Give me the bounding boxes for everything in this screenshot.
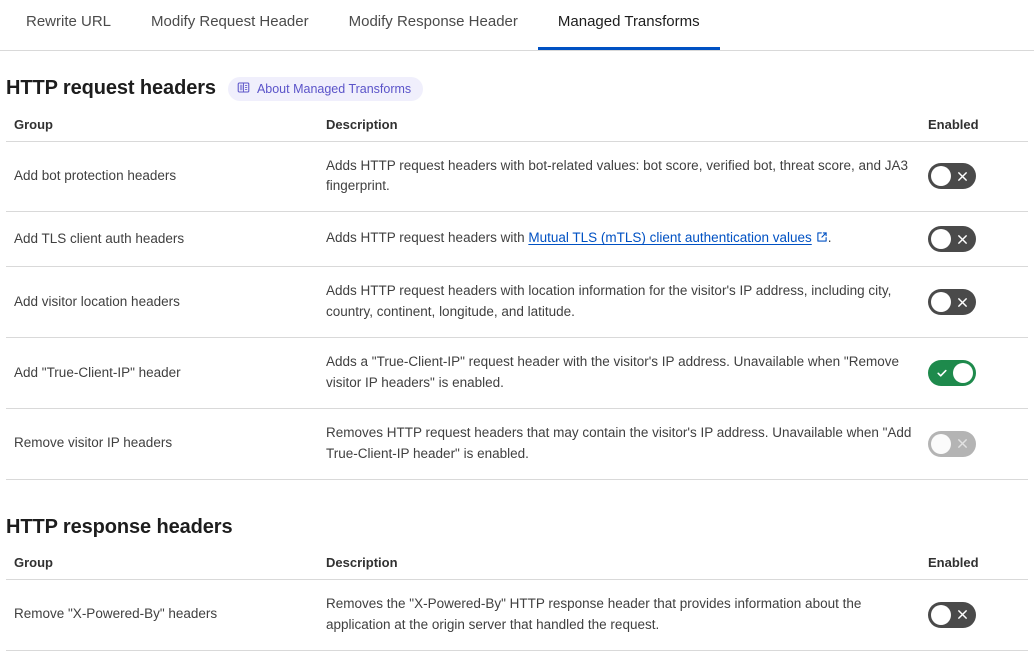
toggle-add-bot-protection-headers[interactable] xyxy=(928,163,976,189)
description-suffix: . xyxy=(828,230,832,245)
response-headers-table: Group Description Enabled Remove "X-Powe… xyxy=(6,555,1028,653)
table-row: Add visitor location headers Adds HTTP r… xyxy=(6,267,1028,338)
column-header-enabled: Enabled xyxy=(920,555,1028,580)
row-description: Adds HTTP request headers with location … xyxy=(318,267,920,338)
description-prefix: Adds HTTP request headers with xyxy=(326,230,528,245)
about-badge-label: About Managed Transforms xyxy=(257,83,411,96)
toggle-knob xyxy=(931,166,951,186)
row-group-label: Add bot protection headers xyxy=(6,141,318,212)
row-description: Removes the "X-Powered-By" HTTP response… xyxy=(318,579,920,650)
table-row: Remove "X-Powered-By" headers Removes th… xyxy=(6,579,1028,650)
toggle-add-tls-client-auth-headers[interactable] xyxy=(928,226,976,252)
row-group-label: Add "True-Client-IP" header xyxy=(6,338,318,409)
toggle-remove-visitor-ip-headers xyxy=(928,431,976,457)
row-description: Adds a "True-Client-IP" request header w… xyxy=(318,338,920,409)
table-row: Add bot protection headers Adds HTTP req… xyxy=(6,141,1028,212)
toggle-knob xyxy=(931,605,951,625)
column-header-group: Group xyxy=(6,117,318,142)
column-header-enabled: Enabled xyxy=(920,117,1028,142)
row-enabled-cell xyxy=(920,338,1028,409)
book-icon xyxy=(237,81,250,97)
row-group-label: Remove visitor IP headers xyxy=(6,409,318,480)
row-enabled-cell xyxy=(920,579,1028,650)
close-icon xyxy=(957,163,968,189)
row-enabled-cell xyxy=(920,409,1028,480)
column-header-group: Group xyxy=(6,555,318,580)
toggle-remove-x-powered-by-headers[interactable] xyxy=(928,602,976,628)
close-icon xyxy=(957,431,968,457)
page-title: HTTP request headers xyxy=(6,77,216,100)
close-icon xyxy=(957,289,968,315)
mtls-docs-link[interactable]: Mutual TLS (mTLS) client authentication … xyxy=(528,230,811,245)
toggle-knob xyxy=(931,434,951,454)
response-section-title: HTTP response headers xyxy=(6,516,233,539)
row-description: Adds HTTP request headers with bot-relat… xyxy=(318,141,920,212)
toggle-knob xyxy=(931,292,951,312)
tab-managed-transforms[interactable]: Managed Transforms xyxy=(538,0,720,50)
column-header-description: Description xyxy=(318,117,920,142)
row-enabled-cell xyxy=(920,212,1028,267)
tab-modify-request-header[interactable]: Modify Request Header xyxy=(131,0,329,50)
row-description: Adds HTTP request headers with Mutual TL… xyxy=(318,212,920,267)
table-row: Add TLS client auth headers Adds HTTP re… xyxy=(6,212,1028,267)
table-header-row: Group Description Enabled xyxy=(6,555,1028,580)
check-icon xyxy=(936,360,948,386)
http-response-headers-section: HTTP response headers Group Description … xyxy=(0,516,1034,653)
toggle-knob xyxy=(953,363,973,383)
toggle-knob xyxy=(931,229,951,249)
http-request-headers-section: HTTP request headers About Managed Trans… xyxy=(0,77,1034,480)
tab-rewrite-url[interactable]: Rewrite URL xyxy=(6,0,131,50)
row-enabled-cell xyxy=(920,141,1028,212)
request-headers-table: Group Description Enabled Add bot protec… xyxy=(6,117,1028,480)
column-header-description: Description xyxy=(318,555,920,580)
request-section-header: HTTP request headers About Managed Trans… xyxy=(6,77,1028,101)
row-enabled-cell xyxy=(920,267,1028,338)
row-group-label: Add TLS client auth headers xyxy=(6,212,318,267)
table-row: Remove visitor IP headers Removes HTTP r… xyxy=(6,409,1028,480)
toggle-add-visitor-location-headers[interactable] xyxy=(928,289,976,315)
table-header-row: Group Description Enabled xyxy=(6,117,1028,142)
table-row: Add "True-Client-IP" header Adds a "True… xyxy=(6,338,1028,409)
tab-bar: Rewrite URL Modify Request Header Modify… xyxy=(0,0,1034,51)
row-group-label: Remove "X-Powered-By" headers xyxy=(6,579,318,650)
close-icon xyxy=(957,226,968,252)
response-section-header: HTTP response headers xyxy=(6,516,1028,539)
tab-modify-response-header[interactable]: Modify Response Header xyxy=(329,0,538,50)
row-group-label: Add visitor location headers xyxy=(6,267,318,338)
about-managed-transforms-badge[interactable]: About Managed Transforms xyxy=(228,77,423,101)
toggle-add-true-client-ip-header[interactable] xyxy=(928,360,976,386)
external-link-icon[interactable] xyxy=(816,229,828,250)
row-description: Removes HTTP request headers that may co… xyxy=(318,409,920,480)
close-icon xyxy=(957,602,968,628)
